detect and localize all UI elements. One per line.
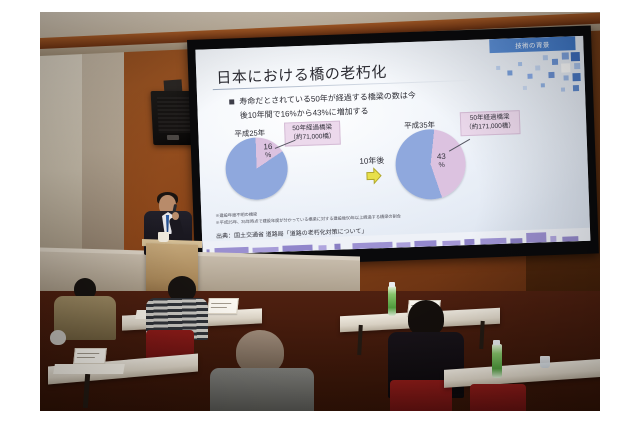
right-callout-line-2: （約171,000橋） [465,122,515,133]
slide-corner-tab: 技術の背景 [489,36,575,53]
left-pie-percent-value: 16 [261,143,275,152]
speaker-grill [157,97,191,133]
left-callout-line-2: （約71,000橋） [289,133,335,143]
left-pie-percent-unit: % [261,152,275,160]
right-pie-graphic [394,128,466,200]
speaker-badge [167,135,179,140]
projection-screen-frame: 技術の背景 [187,26,599,268]
audience-head-secondary [50,330,66,345]
water-bottle [492,344,502,378]
bottle-cap [389,282,395,287]
bottle-cap [493,340,500,345]
podium-cup [158,232,169,242]
chair [390,380,452,411]
slide-corner-tab-label: 技術の背景 [515,39,550,50]
left-pie-callout: 50年経過橋梁 （約71,000橋） [284,121,341,147]
photograph: 技術の背景 [40,12,600,411]
chair [470,384,526,411]
name-card [207,298,239,314]
documents [53,364,125,374]
presenter-hand [172,212,179,220]
audience-body [210,368,314,411]
right-pie-callout: 50年経過橋梁 （約171,000橋） [460,110,520,136]
right-pie-percent-value: 43 [433,153,449,162]
water-bottle [388,286,396,316]
projection-screen-surface: 技術の背景 [195,36,590,255]
transition-label: 10年後 [359,155,384,167]
presentation-slide: 技術の背景 [195,36,590,255]
right-arrow-icon [366,167,383,185]
audience-head [408,300,444,336]
name-card [73,348,107,364]
screenshot-root: 技術の背景 [0,0,640,426]
drinking-glass [540,356,550,368]
right-pie-percent-unit: % [434,162,450,170]
bullet-square-icon [229,99,234,104]
